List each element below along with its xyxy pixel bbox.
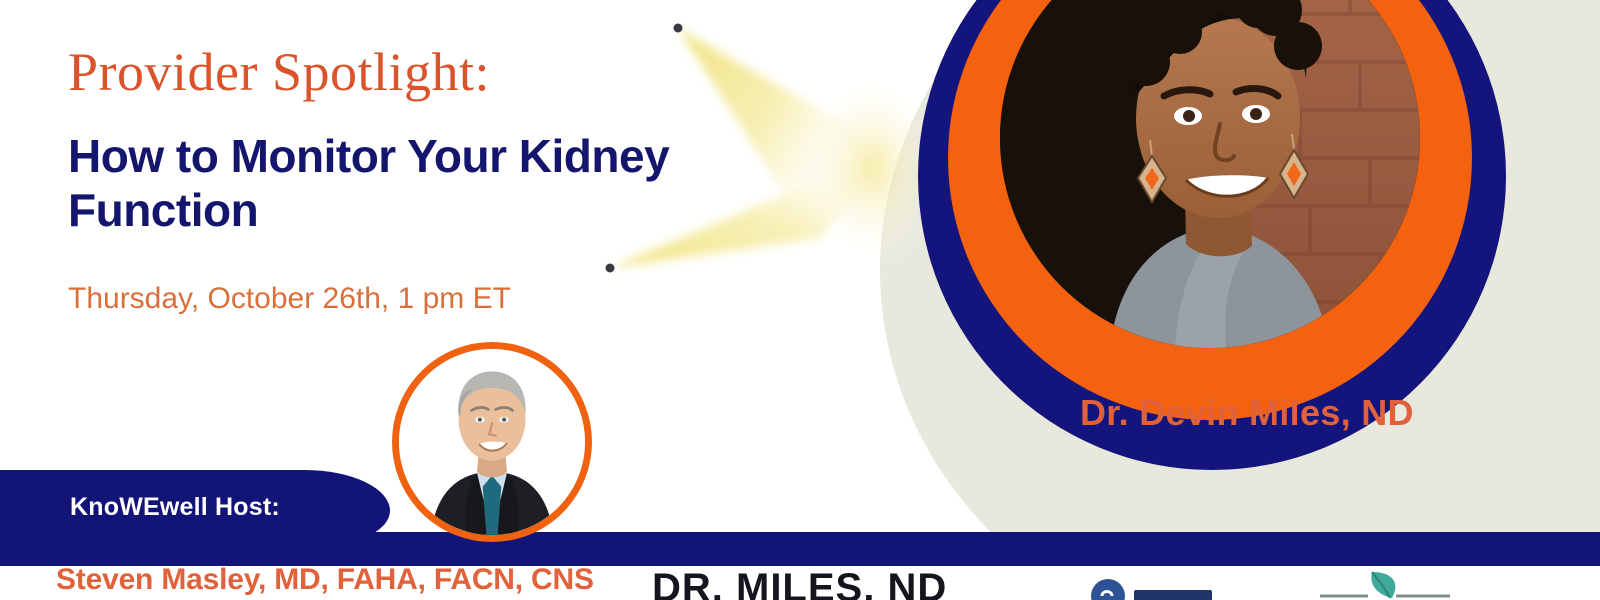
headline-text-block: Provider Spotlight: How to Monitor Your …	[68, 44, 828, 317]
leaf-logo	[1310, 570, 1480, 600]
host-portrait	[392, 342, 592, 542]
host-banner: KnoWEwell Host:	[0, 470, 390, 545]
host-name: Steven Masley, MD, FAHA, FACN, CNS	[56, 563, 594, 597]
event-datetime: Thursday, October 26th, 1 pm ET	[68, 281, 828, 317]
webinar-promo-banner: Provider Spotlight: How to Monitor Your …	[0, 0, 1600, 600]
page-title: How to Monitor Your Kidney Function	[68, 129, 768, 238]
knowewell-logo	[1090, 578, 1260, 600]
speaker-name: Dr. Devin Miles, ND	[1080, 392, 1414, 434]
speaker-name-bottom: DR. MILES, ND	[652, 566, 947, 600]
eyebrow-label: Provider Spotlight:	[68, 44, 828, 101]
host-banner-label: KnoWEwell Host:	[70, 493, 280, 522]
